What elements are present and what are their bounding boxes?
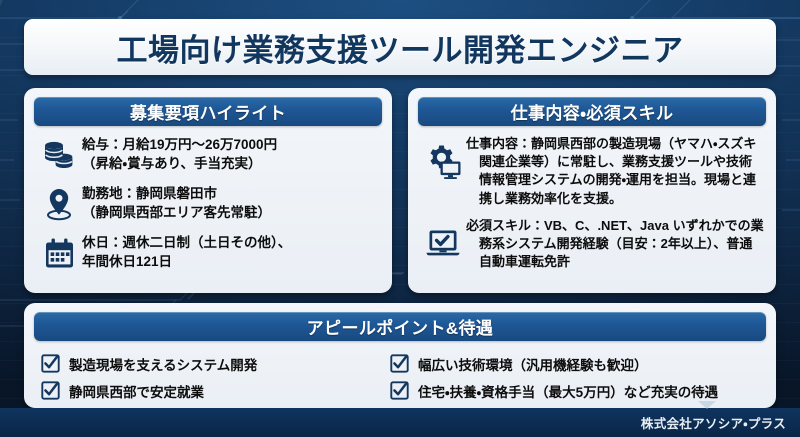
list-item-label: 給与：月給19万円〜26万7000円 （昇給・賞与あり、手当充実） [82,133,380,173]
panel-header-job-description: 仕事内容・必須スキル [418,97,766,126]
checkbox-checked-icon [389,380,410,401]
page-title-card: 工場向け業務支援ツール開発エンジニア [24,19,776,75]
panel-header-label: 募集要項ハイライト [130,99,286,124]
job-description-row-list: 仕事内容：静岡県西部の製造現場（ヤマハ・スズキ関連企業等）に常駐し、業務支援ツー… [408,126,776,273]
panel-requirements-highlight: 募集要項ハイライト [24,88,392,293]
checkbox-checked-icon [40,353,61,374]
requirements-row-list: 給与：月給19万円〜26万7000円 （昇給・賞与あり、手当充実） 勤務地：静岡… [24,126,392,275]
checkbox-checked-icon [40,380,61,401]
panel-header-label: 仕事内容・必須スキル [511,99,674,124]
gear-monitor-icon [420,133,466,191]
location-pin-icon [36,182,82,226]
list-item-label: 幅広い技術環境（汎用機経験も歓迎） [418,354,648,374]
list-item-label: 製造現場を支えるシステム開発 [69,354,257,374]
page-title: 工場向け業務支援ツール開発エンジニア [117,25,684,70]
list-item-label: 仕事内容：静岡県西部の製造現場（ヤマハ・スズキ関連企業等）に常駐し、業務支援ツー… [466,133,764,208]
list-item-label: 必須スキル：VB、C、.NET、Java いずれかでの業務系システム開発経験（目… [466,215,764,272]
list-item: 給与：月給19万円〜26万7000円 （昇給・賞与あり、手当充実） [36,133,380,177]
checkbox-checked-icon [389,353,410,374]
company-name: 株式会社アソシア・プラス [641,413,786,432]
panel-header-label: アピールポイント&待遇 [307,314,494,339]
panel-header-appeal-points: アピールポイント&待遇 [34,312,766,341]
panel-header-requirements: 募集要項ハイライト [34,97,382,126]
appeal-points-grid: 製造現場を支えるシステム開発 幅広い技術環境（汎用機経験も歓迎） [24,341,776,404]
panel-appeal-points: アピールポイント&待遇 製造現場を支えるシステム開発 [24,303,776,408]
list-item: 静岡県西部で安定就業 [40,377,385,404]
footer-bar: 株式会社アソシア・プラス [0,408,800,437]
list-item-label: 住宅・扶養・資格手当（最大5万円）など充実の待遇 [418,381,718,401]
coins-icon [36,133,82,177]
list-item: 必須スキル：VB、C、.NET、Java いずれかでの業務系システム開発経験（目… [420,215,764,273]
list-item: 休日：週休二日制（土日その他）、 年間休日121日 [36,231,380,275]
laptop-check-icon [420,215,466,273]
infographic-canvas: 工場向け業務支援ツール開発エンジニア 募集要項ハイライト [0,0,800,437]
list-item: 住宅・扶養・資格手当（最大5万円）など充実の待遇 [389,377,762,404]
list-item: 勤務地：静岡県磐田市 （静岡県西部エリア客先常駐） [36,182,380,226]
list-item: 仕事内容：静岡県西部の製造現場（ヤマハ・スズキ関連企業等）に常駐し、業務支援ツー… [420,133,764,208]
panel-job-description: 仕事内容・必須スキル 仕事内容：静岡県西部の製造現場（ヤマハ・スズキ関連企業等）… [408,88,776,293]
footer-arrow-decoration [698,401,716,409]
list-item-label: 休日：週休二日制（土日その他）、 年間休日121日 [82,231,380,271]
list-item: 製造現場を支えるシステム開発 [40,350,385,377]
list-item: 幅広い技術環境（汎用機経験も歓迎） [389,350,762,377]
list-item-label: 静岡県西部で安定就業 [69,381,204,401]
list-item-label: 勤務地：静岡県磐田市 （静岡県西部エリア客先常駐） [82,182,380,222]
calendar-icon [36,231,82,275]
